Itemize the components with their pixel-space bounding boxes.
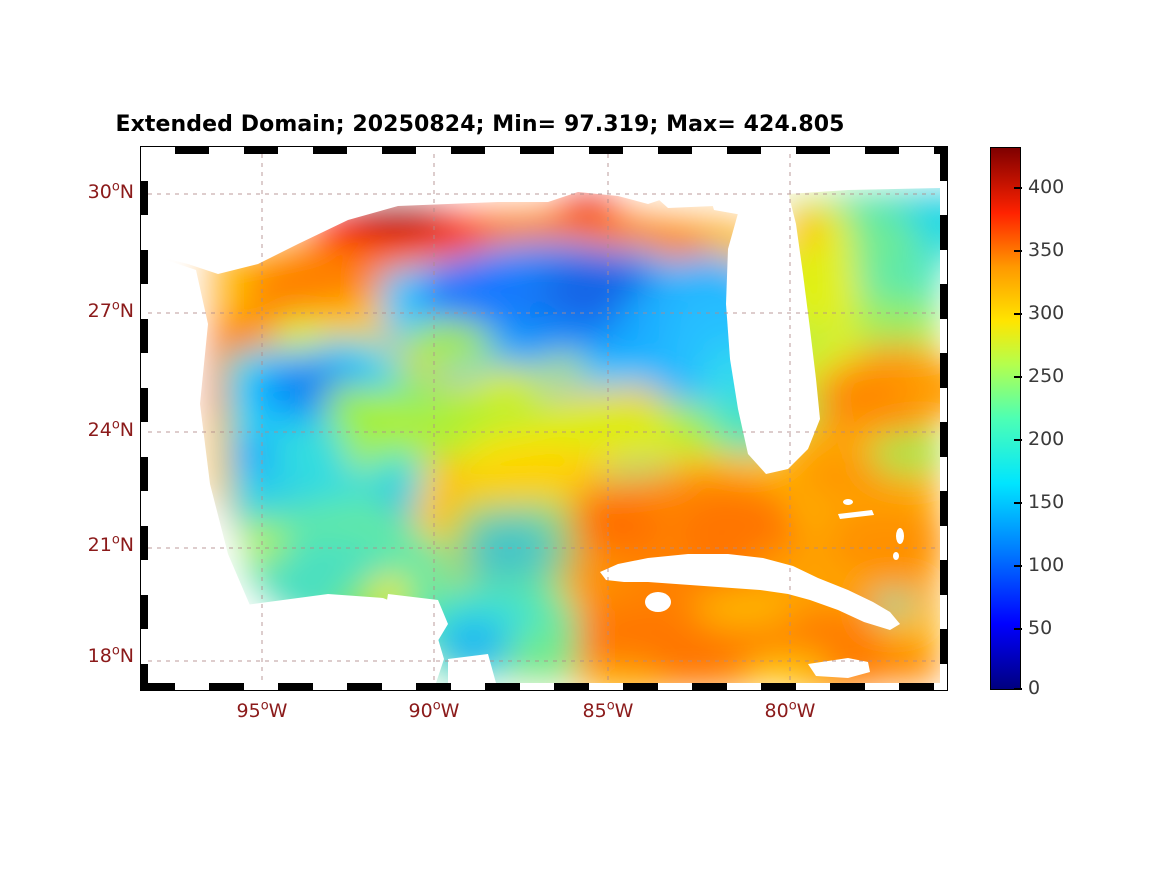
frame-segment bbox=[940, 250, 948, 285]
colorbar-tick-label: 200 bbox=[1028, 428, 1064, 450]
frame-segment bbox=[313, 146, 348, 154]
frame-segment bbox=[140, 146, 175, 154]
frame-segment bbox=[175, 146, 210, 154]
frame-segment bbox=[313, 683, 348, 691]
frame-segment bbox=[623, 146, 658, 154]
frame-segment bbox=[940, 319, 948, 354]
frame-segment bbox=[692, 146, 727, 154]
frame-segment bbox=[347, 683, 382, 691]
latitude-label: 27oN bbox=[56, 300, 134, 322]
colorbar-tick-mark bbox=[1014, 502, 1022, 504]
frame-segment bbox=[140, 422, 148, 457]
frame-segment bbox=[244, 683, 279, 691]
frame-segment bbox=[554, 146, 589, 154]
frame-segment bbox=[520, 146, 555, 154]
colorbar-tick-label: 350 bbox=[1028, 239, 1064, 261]
frame-segment bbox=[940, 146, 948, 181]
frame-segment bbox=[899, 146, 934, 154]
frame-segment bbox=[140, 595, 148, 630]
graticule-gridlines bbox=[148, 154, 940, 683]
frame-segment bbox=[382, 683, 417, 691]
colorbar-tick-label: 50 bbox=[1028, 617, 1052, 639]
frame-rule bbox=[947, 146, 948, 691]
frame-segment bbox=[347, 146, 382, 154]
frame-segment bbox=[940, 181, 948, 216]
frame-segment bbox=[416, 146, 451, 154]
frame-segment bbox=[796, 146, 831, 154]
map-axes bbox=[140, 146, 948, 691]
frame-segment bbox=[940, 595, 948, 630]
frame-segment bbox=[940, 388, 948, 423]
frame-segment bbox=[140, 560, 148, 595]
colorbar-tick-mark bbox=[1014, 187, 1022, 189]
frame-segment bbox=[416, 683, 451, 691]
frame-segment bbox=[761, 146, 796, 154]
colorbar-gradient bbox=[991, 148, 1020, 689]
frame-segment bbox=[244, 146, 279, 154]
frame-segment bbox=[278, 683, 313, 691]
longitude-label: 85oW bbox=[583, 700, 634, 722]
frame-segment bbox=[554, 683, 589, 691]
frame-segment bbox=[727, 146, 762, 154]
latitude-label: 21oN bbox=[56, 534, 134, 556]
colorbar-tick-mark bbox=[1014, 376, 1022, 378]
frame-segment bbox=[520, 683, 555, 691]
frame-segment bbox=[727, 683, 762, 691]
frame-segment bbox=[209, 683, 244, 691]
frame-segment bbox=[140, 319, 148, 354]
frame-segment bbox=[865, 683, 900, 691]
latitude-label: 24oN bbox=[56, 419, 134, 441]
frame-segment bbox=[175, 683, 210, 691]
map-canvas bbox=[148, 154, 940, 683]
frame-segment bbox=[830, 683, 865, 691]
colorbar-tick-mark bbox=[1014, 250, 1022, 252]
frame-segment bbox=[940, 457, 948, 492]
frame-segment bbox=[451, 683, 486, 691]
frame-segment bbox=[140, 491, 148, 526]
frame-segment bbox=[658, 146, 693, 154]
frame-segment bbox=[140, 181, 148, 216]
frame-segment bbox=[940, 629, 948, 664]
longitude-label: 90oW bbox=[409, 700, 460, 722]
colorbar-tick-label: 300 bbox=[1028, 302, 1064, 324]
frame-segment bbox=[140, 388, 148, 423]
frame-segment bbox=[589, 683, 624, 691]
frame-segment bbox=[140, 250, 148, 285]
frame-segment bbox=[140, 683, 175, 691]
frame-segment bbox=[140, 146, 148, 181]
colorbar-tick-mark bbox=[1014, 628, 1022, 630]
frame-segment bbox=[899, 683, 934, 691]
frame-segment bbox=[485, 683, 520, 691]
frame-segment bbox=[830, 146, 865, 154]
frame-segment bbox=[658, 683, 693, 691]
frame-segment bbox=[623, 683, 658, 691]
latitude-label: 18oN bbox=[56, 645, 134, 667]
colorbar-tick-mark bbox=[1014, 313, 1022, 315]
frame-segment bbox=[940, 215, 948, 250]
frame-rule bbox=[140, 146, 141, 691]
colorbar-tick-label: 250 bbox=[1028, 365, 1064, 387]
colorbar-tick-mark bbox=[1014, 688, 1022, 690]
frame-segment bbox=[209, 146, 244, 154]
frame-segment bbox=[140, 457, 148, 492]
frame-segment bbox=[940, 526, 948, 561]
frame-segment bbox=[589, 146, 624, 154]
frame-segment bbox=[934, 683, 949, 691]
colorbar bbox=[990, 147, 1021, 690]
frame-segment bbox=[140, 526, 148, 561]
colorbar-tick-label: 400 bbox=[1028, 176, 1064, 198]
longitude-label: 80oW bbox=[765, 700, 816, 722]
longitude-label: 95oW bbox=[237, 700, 288, 722]
frame-segment bbox=[940, 664, 948, 692]
frame-segment bbox=[692, 683, 727, 691]
frame-segment bbox=[796, 683, 831, 691]
colorbar-tick-label: 0 bbox=[1028, 677, 1040, 699]
colorbar-tick-mark bbox=[1014, 439, 1022, 441]
frame-rule bbox=[140, 690, 948, 691]
frame-segment bbox=[140, 353, 148, 388]
colorbar-tick-label: 100 bbox=[1028, 554, 1064, 576]
frame-segment bbox=[278, 146, 313, 154]
frame-segment bbox=[140, 664, 148, 692]
frame-segment bbox=[485, 146, 520, 154]
frame-segment bbox=[865, 146, 900, 154]
frame-segment bbox=[382, 146, 417, 154]
frame-segment bbox=[940, 422, 948, 457]
colorbar-tick-label: 150 bbox=[1028, 491, 1064, 513]
frame-segment bbox=[140, 215, 148, 250]
frame-rule bbox=[140, 146, 948, 147]
frame-segment bbox=[140, 284, 148, 319]
colorbar-tick-mark bbox=[1014, 565, 1022, 567]
latitude-label: 30oN bbox=[56, 181, 134, 203]
frame-segment bbox=[451, 146, 486, 154]
frame-segment bbox=[140, 629, 148, 664]
frame-segment bbox=[940, 353, 948, 388]
frame-segment bbox=[934, 146, 949, 154]
page-title: Extended Domain; 20250824; Min= 97.319; … bbox=[0, 112, 960, 137]
frame-segment bbox=[940, 560, 948, 595]
frame-segment bbox=[761, 683, 796, 691]
frame-segment bbox=[940, 491, 948, 526]
frame-segment bbox=[940, 284, 948, 319]
